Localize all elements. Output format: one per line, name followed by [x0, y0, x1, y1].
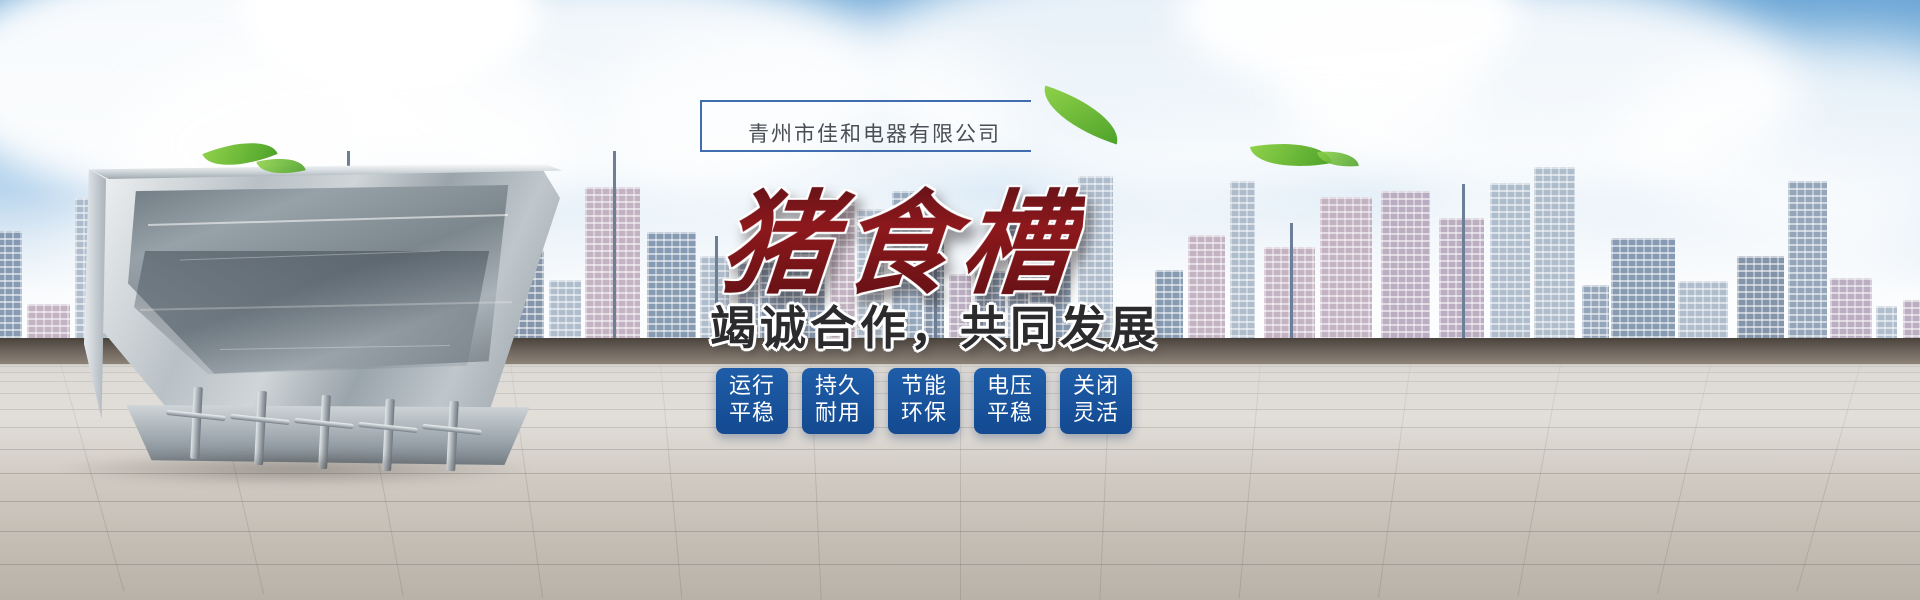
product-image-pig-feeder — [70, 155, 590, 475]
skyline-spire — [1462, 184, 1465, 345]
product-shadow — [60, 452, 530, 486]
promo-banner: 青州市佳和电器有限公司 猪食槽 竭诚合作，共同发展 运行平稳持久耐用节能环保电压… — [0, 0, 1920, 600]
skyline-building — [1582, 285, 1609, 345]
badge-line-1: 运行 — [729, 374, 775, 401]
skyline-building — [0, 231, 22, 345]
skyline-building — [1678, 281, 1728, 345]
badge-line-2: 平稳 — [729, 401, 775, 428]
badge-line-2: 灵活 — [1073, 401, 1119, 428]
skyline-building — [1534, 167, 1575, 345]
feature-badge-list: 运行平稳持久耐用节能环保电压平稳关闭灵活 — [716, 368, 1132, 434]
skyline-spire — [613, 151, 616, 345]
badge-line-1: 电压 — [987, 374, 1033, 401]
company-name: 青州市佳和电器有限公司 — [748, 118, 1001, 148]
feature-badge-4[interactable]: 电压平稳 — [974, 368, 1046, 434]
skyline-building — [1830, 278, 1872, 345]
banner-text-block: 青州市佳和电器有限公司 猪食槽 竭诚合作，共同发展 运行平稳持久耐用节能环保电压… — [700, 96, 1420, 576]
skyline-building — [647, 232, 696, 345]
badge-line-1: 持久 — [815, 374, 861, 401]
badge-line-2: 环保 — [901, 401, 947, 428]
skyline-building — [1788, 181, 1827, 345]
feature-badge-2[interactable]: 持久耐用 — [802, 368, 874, 434]
badge-line-1: 关闭 — [1073, 374, 1119, 401]
skyline-building — [1611, 238, 1675, 345]
badge-line-1: 节能 — [901, 374, 947, 401]
skyline-building — [1490, 183, 1530, 345]
feature-badge-1[interactable]: 运行平稳 — [716, 368, 788, 434]
feature-badge-3[interactable]: 节能环保 — [888, 368, 960, 434]
feature-badge-5[interactable]: 关闭灵活 — [1060, 368, 1132, 434]
badge-line-2: 耐用 — [815, 401, 861, 428]
trough-left-rim — [84, 169, 106, 419]
banner-subtitle: 竭诚合作，共同发展 — [710, 292, 1160, 358]
skyline-building — [1737, 256, 1784, 345]
badge-line-2: 平稳 — [987, 401, 1033, 428]
